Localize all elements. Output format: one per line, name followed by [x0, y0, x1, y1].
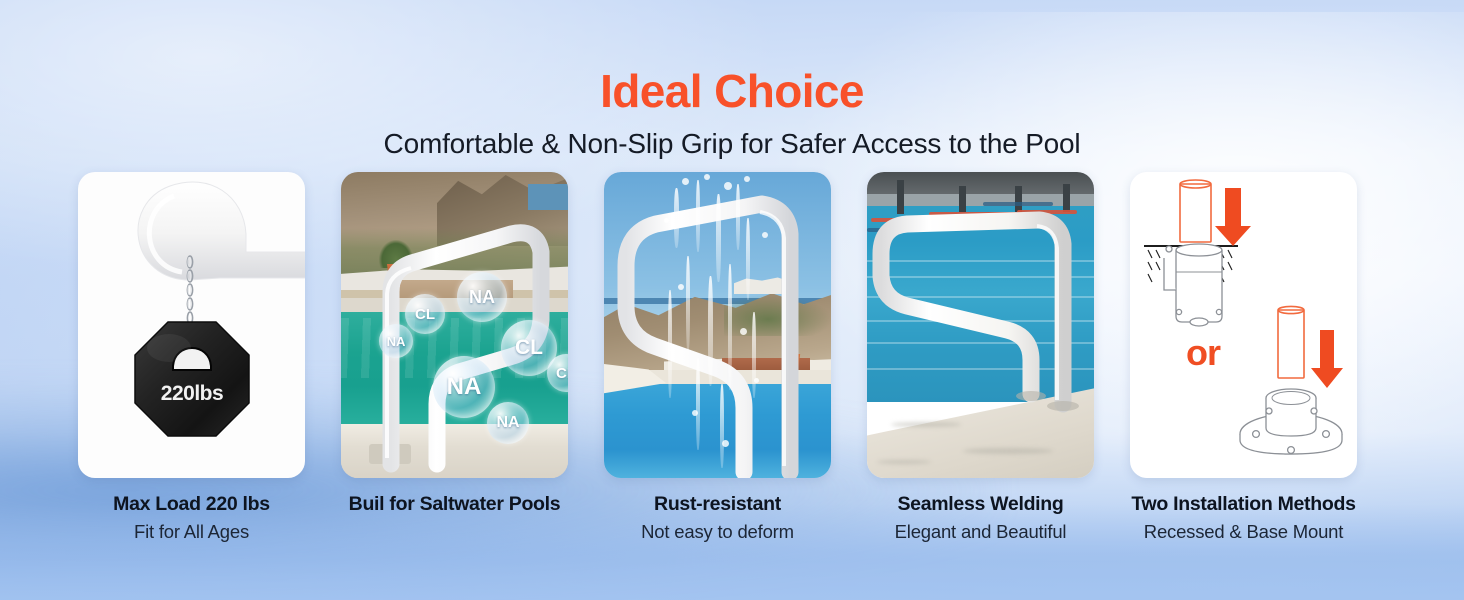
base-mount-flange [1240, 389, 1342, 454]
feature-card-rust-resistant: Rust-resistant Not easy to deform [604, 172, 831, 543]
bubble-na: NA [433, 356, 495, 418]
caption-subtitle: Fit for All Ages [67, 521, 317, 543]
caption-saltwater: Buil for Saltwater Pools [330, 493, 580, 521]
card-image-max-load: 220lbs [78, 172, 305, 478]
caption-title: Buil for Saltwater Pools [330, 493, 580, 516]
bubble-na: NA [457, 272, 507, 322]
caption-seamless-welding: Seamless Welding Elegant and Beautiful [856, 493, 1106, 543]
caption-subtitle: Not easy to deform [593, 521, 843, 543]
card-image-rust-resistant [604, 172, 831, 478]
card-image-saltwater: CL NA NA CL NA NA CL [341, 172, 568, 478]
installation-diagram-icon [1130, 172, 1357, 478]
page-title: Ideal Choice [0, 68, 1464, 114]
down-arrow-base [1311, 330, 1343, 388]
feature-card-max-load: 220lbs Max Load 220 lbs Fit for All Ages [78, 172, 305, 543]
card-image-seamless-welding [867, 172, 1094, 478]
octagon-weight-icon [133, 320, 251, 438]
caption-installation: Two Installation Methods Recessed & Base… [1119, 493, 1369, 543]
recessed-anchor-socket [1164, 244, 1222, 326]
feature-card-saltwater: CL NA NA CL NA NA CL Buil for Saltwater … [341, 172, 568, 543]
caption-subtitle: Elegant and Beautiful [856, 521, 1106, 543]
caption-rust-resistant: Rust-resistant Not easy to deform [593, 493, 843, 543]
feature-card-seamless-welding: Seamless Welding Elegant and Beautiful [867, 172, 1094, 543]
banner-header: Ideal Choice Comfortable & Non-Slip Grip… [0, 0, 1464, 160]
caption-subtitle: Recessed & Base Mount [1119, 521, 1369, 543]
caption-title: Seamless Welding [856, 493, 1106, 516]
feature-card-installation: or Two Installation Methods Recessed & B… [1130, 172, 1357, 543]
caption-title: Rust-resistant [593, 493, 843, 516]
pool-handrail-icon [867, 172, 1094, 478]
bubble-na: NA [379, 324, 413, 358]
caption-title: Two Installation Methods [1119, 493, 1369, 516]
or-label: or [1186, 332, 1220, 374]
bubble-na: NA [487, 402, 529, 444]
bubble-cl: CL [405, 294, 445, 334]
caption-title: Max Load 220 lbs [67, 493, 317, 516]
down-arrow-recessed [1215, 188, 1251, 246]
caption-max-load: Max Load 220 lbs Fit for All Ages [67, 493, 317, 543]
feature-card-row: 220lbs Max Load 220 lbs Fit for All Ages [78, 172, 1386, 543]
weight-label: 220lbs [133, 382, 251, 406]
chain-icon [186, 254, 194, 326]
card-image-installation: or [1130, 172, 1357, 478]
page-subtitle: Comfortable & Non-Slip Grip for Safer Ac… [0, 128, 1464, 160]
pool-rail-icon [112, 172, 305, 282]
